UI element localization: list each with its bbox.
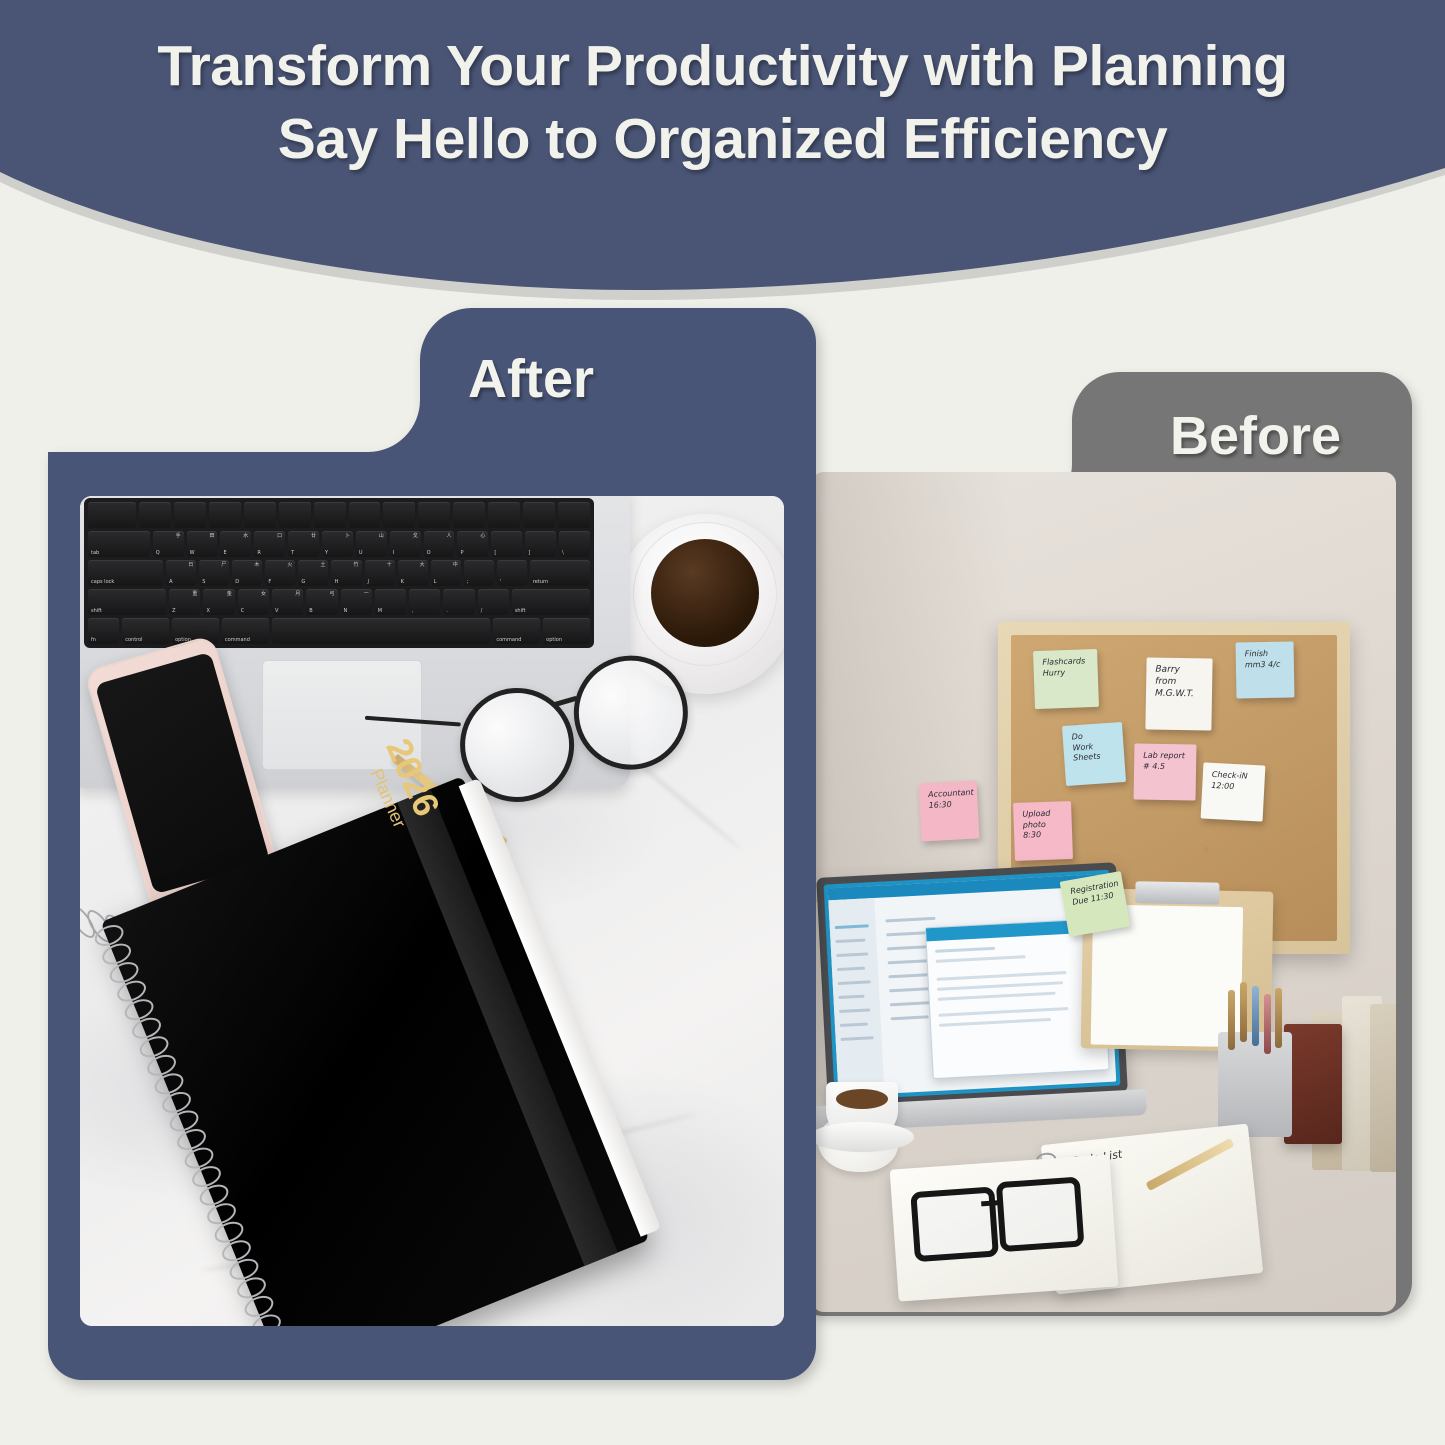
pencil-cup: [1218, 1032, 1292, 1137]
coffee-saucer: [812, 1122, 914, 1152]
before-photo: FlashcardsHurry BarryfromM.G.W.T. Finish…: [812, 472, 1396, 1312]
sticky-note: FlashcardsHurry: [1033, 649, 1099, 709]
page-title: Transform Your Productivity with Plannin…: [0, 30, 1445, 176]
leather-organizer: [1284, 1024, 1342, 1144]
header-banner: Transform Your Productivity with Plannin…: [0, 0, 1445, 300]
after-tab-label: After: [468, 348, 594, 410]
header-line-2: Say Hello to Organized Efficiency: [0, 103, 1445, 176]
wall-shadow: [812, 472, 1012, 902]
sticky-note: Check-iN12:00: [1201, 762, 1266, 821]
after-photo: tab Q手 W田 E水 R口 T廿 Y卜 U山 I戈 O人 P心 [ ] \: [80, 496, 784, 1326]
sticky-note: Uploadphoto8:30: [1013, 801, 1073, 861]
email-sidebar: [828, 898, 884, 1096]
keyboard-row-function: [88, 502, 590, 528]
before-panel[interactable]: Before FlashcardsHurry BarryfromM.G.W.T.…: [790, 372, 1412, 1330]
sticky-note-wall: Accountant16:30: [919, 781, 980, 842]
keyboard-row-3: shift Z重 X金 C女 V月 B弓 N一 M , . / shift: [88, 589, 590, 615]
keyboard-row-2: caps lock A日 S尸 D木 F火 G土 H竹 J十 K大 L中 ; '…: [88, 560, 590, 586]
sticky-note-laptop: RegistrationDue 11:30: [1060, 871, 1131, 937]
coffee-liquid: [651, 539, 759, 647]
sticky-note: Finishmm3 4/c: [1236, 641, 1295, 698]
sticky-note: DoWorkSheets: [1062, 722, 1126, 786]
key-label: tab: [91, 550, 99, 556]
eyeglasses: [910, 1172, 1095, 1256]
keyboard-row-1: tab Q手 W田 E水 R口 T廿 Y卜 U山 I戈 O人 P心 [ ] \: [88, 531, 590, 557]
keyboard: tab Q手 W田 E水 R口 T廿 Y卜 U山 I戈 O人 P心 [ ] \: [84, 498, 594, 648]
sticky-note: Lab report# 4.5: [1134, 743, 1197, 800]
keyboard-row-modifier: fn control option command command option: [88, 618, 590, 644]
after-panel[interactable]: After: [48, 300, 816, 1390]
sticky-note: BarryfromM.G.W.T.: [1145, 657, 1212, 730]
header-line-1: Transform Your Productivity with Plannin…: [157, 34, 1287, 98]
clipboard-clip: [1135, 881, 1219, 904]
poster-stage: Transform Your Productivity with Plannin…: [0, 0, 1445, 1445]
before-tab-label: Before: [1170, 405, 1341, 467]
